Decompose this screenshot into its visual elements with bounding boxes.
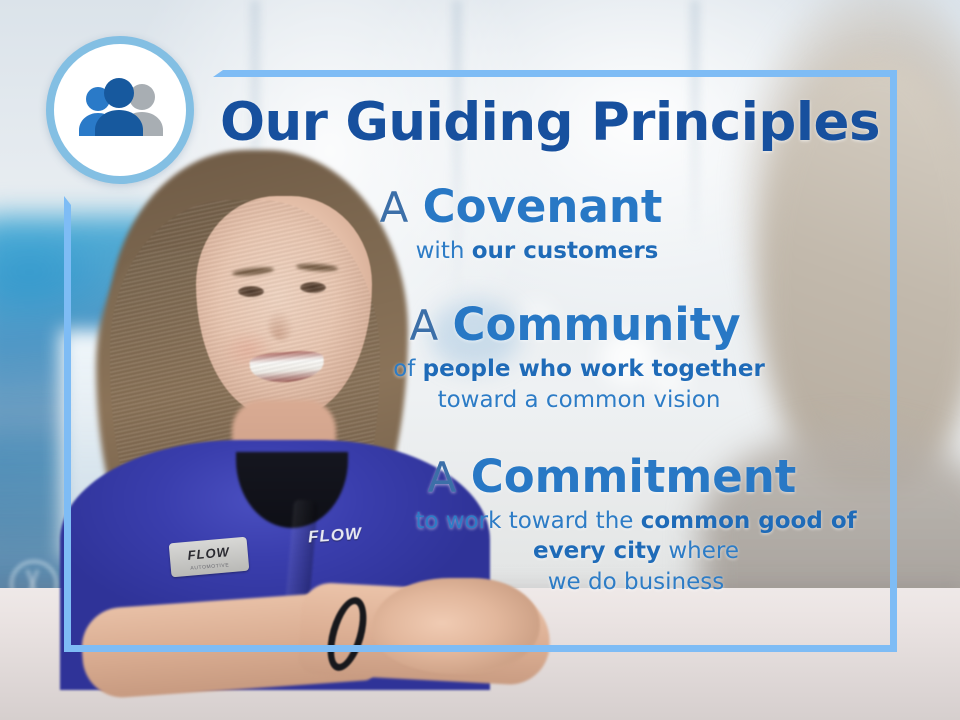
principle-subtext-prefix: of: [393, 356, 422, 382]
principle-keyword: Community: [452, 298, 740, 351]
principle-subtext: to work toward the common good of every …: [215, 506, 887, 598]
principle-article: A: [409, 301, 438, 350]
principle-subtext-line2: toward a common vision: [438, 387, 721, 413]
principle-keyword: Covenant: [423, 180, 663, 233]
principle-item: A Covenant with our customers: [215, 182, 887, 267]
principle-heading: A Covenant: [215, 182, 887, 232]
principle-item: A Commitment to work toward the common g…: [215, 452, 887, 598]
principle-article: A: [380, 183, 409, 232]
principle-keyword: Commitment: [471, 450, 797, 503]
principle-subtext-bold: people who work together: [423, 356, 765, 382]
principle-subtext-line2: we do business: [548, 569, 725, 595]
principle-subtext-suffix: where: [661, 538, 739, 564]
principle-heading: A Commitment: [215, 452, 887, 502]
text-content: Our Guiding Principles A Covenant with o…: [0, 0, 960, 720]
principle-article: A: [428, 453, 457, 502]
principle-subtext-prefix: to work toward the: [415, 508, 640, 534]
principle-item: A Community of people who work together …: [215, 300, 887, 416]
principle-subtext-bold: our customers: [472, 238, 659, 264]
principles-list: A Covenant with our customers A Communit…: [215, 182, 887, 602]
page-title: Our Guiding Principles: [215, 92, 885, 153]
guiding-principles-graphic: FLOW AUTOMOTIVE FLOW: [0, 0, 960, 720]
principle-subtext: of people who work together toward a com…: [215, 354, 887, 415]
principle-subtext-prefix: with: [416, 238, 472, 264]
principle-heading: A Community: [215, 300, 887, 350]
principle-subtext: with our customers: [215, 236, 887, 267]
